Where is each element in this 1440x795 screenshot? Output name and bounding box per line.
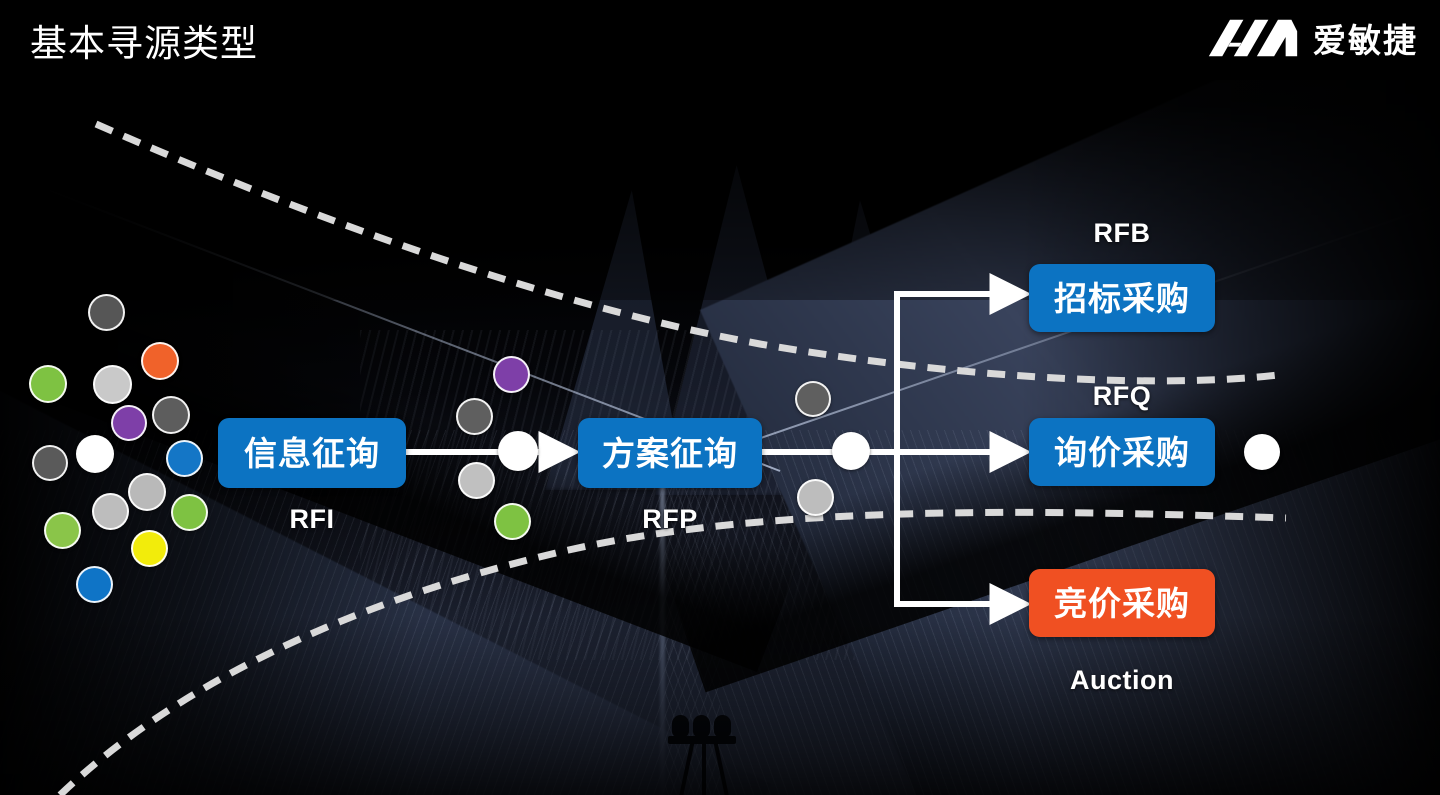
dot-cluster-left-3 — [29, 365, 67, 403]
node-box-rfb[interactable]: 招标采购 — [1029, 264, 1215, 332]
brand-lockup: 爱敏捷 — [1205, 14, 1418, 62]
dot-cluster-left-9 — [166, 440, 203, 477]
dot-standalone-right-1 — [1244, 434, 1280, 470]
dot-cluster-rfp-out-3 — [797, 479, 834, 516]
slide-canvas: 信息征询RFI方案征询RFP招标采购RFB询价采购RFQ竞价采购Auction … — [0, 0, 1440, 795]
dot-cluster-rfi-out-4 — [458, 462, 495, 499]
dot-cluster-rfi-out-3 — [498, 431, 538, 471]
node-label-rfp: 方案征询 — [602, 437, 738, 470]
dot-cluster-left-11 — [92, 493, 129, 530]
node-caption-rfp: RFP — [578, 504, 762, 535]
node-label-rfi: 信息征询 — [244, 437, 380, 470]
vignette-bottom — [0, 615, 1440, 795]
dot-cluster-rfp-out-2 — [832, 432, 870, 470]
dot-cluster-left-6 — [111, 405, 147, 441]
dot-cluster-rfi-out-2 — [456, 398, 493, 435]
node-box-rfq[interactable]: 询价采购 — [1029, 418, 1215, 486]
page-title: 基本寻源类型 — [30, 13, 258, 67]
node-caption-auction: Auction — [1029, 665, 1215, 696]
node-label-auction: 竞价采购 — [1054, 587, 1190, 620]
background-image — [0, 0, 1440, 795]
dot-cluster-left-14 — [131, 530, 168, 567]
dot-cluster-left-2 — [141, 342, 179, 380]
dot-cluster-left-7 — [32, 445, 68, 481]
node-box-rfp[interactable]: 方案征询 — [578, 418, 762, 488]
node-caption-rfb: RFB — [1029, 218, 1215, 249]
node-box-rfi[interactable]: 信息征询 — [218, 418, 406, 488]
dot-cluster-left-8 — [76, 435, 114, 473]
node-label-rfq: 询价采购 — [1054, 436, 1190, 469]
dot-cluster-left-4 — [93, 365, 132, 404]
dot-cluster-left-13 — [44, 512, 81, 549]
node-label-rfb: 招标采购 — [1054, 282, 1190, 315]
dot-cluster-left-15 — [76, 566, 113, 603]
brand-name: 爱敏捷 — [1313, 14, 1418, 62]
dot-cluster-left-10 — [128, 473, 166, 511]
dot-cluster-rfp-out-1 — [795, 381, 831, 417]
slide-header: 基本寻源类型 爱敏捷 — [0, 0, 1440, 80]
amj-chevron-logo-icon — [1205, 14, 1301, 62]
dot-cluster-left-5 — [152, 396, 190, 434]
dot-cluster-rfi-out-5 — [494, 503, 531, 540]
dot-cluster-left-12 — [171, 494, 208, 531]
node-caption-rfi: RFI — [218, 504, 406, 535]
dot-cluster-rfi-out-1 — [493, 356, 530, 393]
node-box-auction[interactable]: 竞价采购 — [1029, 569, 1215, 637]
dot-cluster-left-1 — [88, 294, 125, 331]
node-caption-rfq: RFQ — [1029, 381, 1215, 412]
